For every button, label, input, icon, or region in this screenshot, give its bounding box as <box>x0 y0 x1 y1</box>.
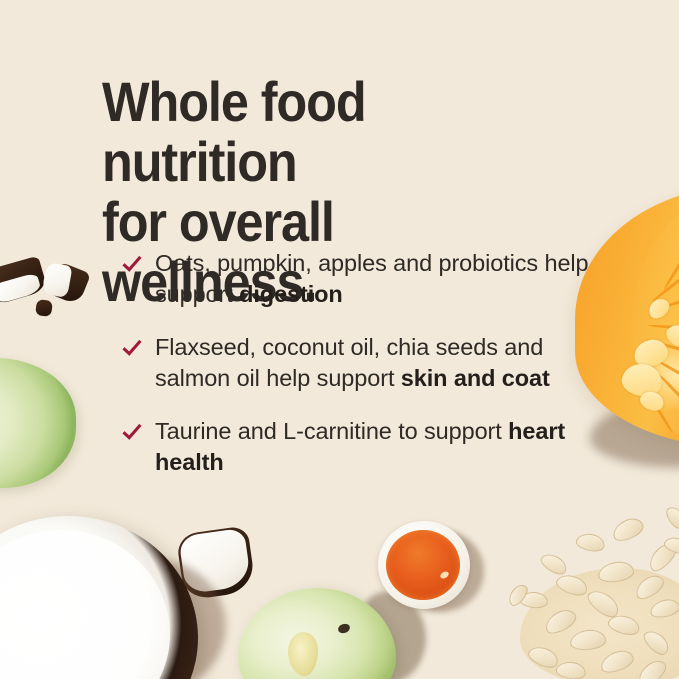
check-icon <box>121 420 143 442</box>
list-item: Taurine and L-carnitine to support heart… <box>121 416 591 478</box>
list-item: Oats, pumpkin, apples and probiotics hel… <box>121 248 591 310</box>
list-item-emphasis: digestion <box>239 281 343 307</box>
benefits-list: Oats, pumpkin, apples and probiotics hel… <box>121 248 591 478</box>
list-item-text: Oats, pumpkin, apples and probiotics hel… <box>155 250 589 307</box>
list-item-text: Taurine and L-carnitine to support <box>155 418 508 444</box>
check-icon <box>121 336 143 358</box>
check-icon <box>121 252 143 274</box>
promo-panel: Whole food nutrition for overall wellnes… <box>0 0 679 679</box>
list-item-emphasis: skin and coat <box>401 365 550 391</box>
list-item: Flaxseed, coconut oil, chia seeds and sa… <box>121 332 591 394</box>
content-layer: Whole food nutrition for overall wellnes… <box>0 0 679 679</box>
